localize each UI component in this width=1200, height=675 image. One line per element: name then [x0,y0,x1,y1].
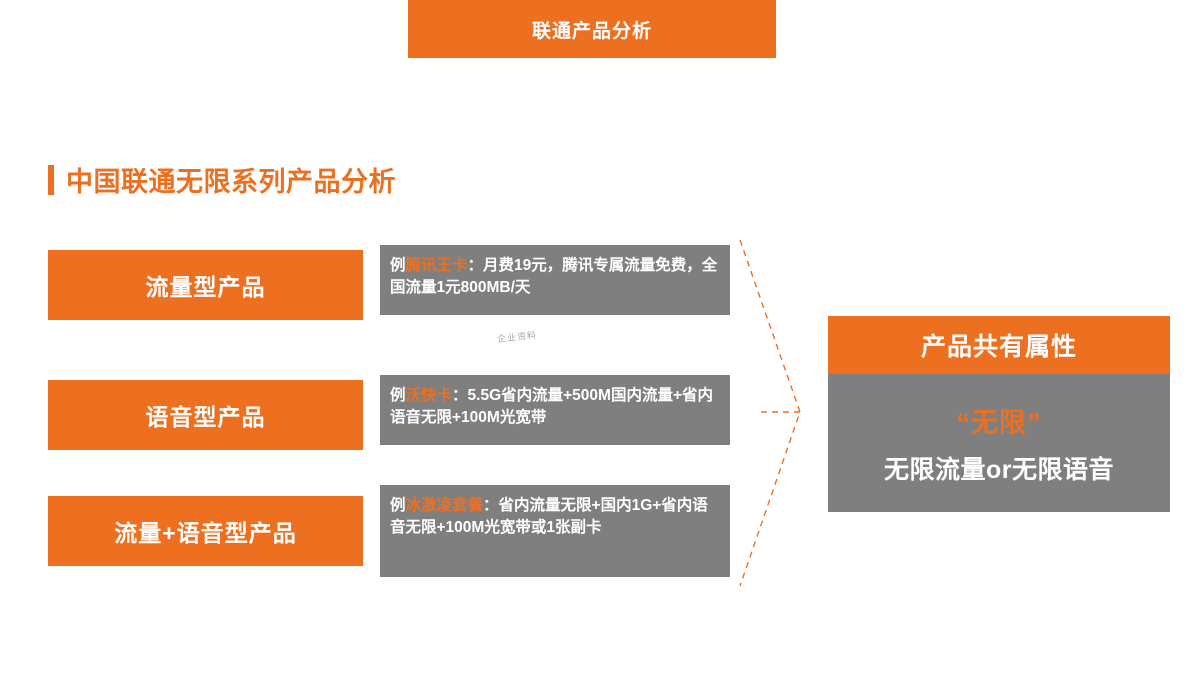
example-box-voice: 例沃快卡：5.5G省内流量+500M国内流量+省内语音无限+100M光宽带 [380,375,730,445]
category-label: 流量+语音型产品 [114,514,296,548]
top-title-text: 联通产品分析 [532,16,652,43]
section-heading-text: 中国联通无限系列产品分析 [66,160,396,199]
section-heading: 中国联通无限系列产品分析 [48,160,396,199]
example-box-traffic-voice: 例冰激凌套餐：省内流量无限+国内1G+省内语音无限+100M光宽带或1张副卡 [380,485,730,577]
category-box-traffic: 流量型产品 [48,250,363,320]
watermark-text: 企业资料 [496,328,537,345]
result-header-text: 产品共有属性 [921,327,1077,363]
example-product-name: 沃快卡 [406,387,453,404]
example-prefix: 例 [390,497,406,514]
example-product-name: 腾讯王卡 [406,257,468,274]
category-box-traffic-voice: 流量+语音型产品 [48,496,363,566]
result-quote-text: “无限” [957,401,1042,440]
chevron-arrow-icon [738,238,828,588]
result-subtitle-text: 无限流量or无限语音 [884,450,1114,486]
heading-accent-bar [48,165,54,195]
result-body: “无限” 无限流量or无限语音 [828,374,1170,512]
category-label: 流量型产品 [146,268,266,302]
example-prefix: 例 [390,387,406,404]
category-label: 语音型产品 [146,398,266,432]
result-header: 产品共有属性 [828,316,1170,374]
example-product-name: 冰激凌套餐 [406,497,484,514]
top-title-banner: 联通产品分析 [408,0,776,58]
example-box-traffic: 例腾讯王卡：月费19元，腾讯专属流量免费，全国流量1元800MB/天 [380,245,730,315]
example-prefix: 例 [390,257,406,274]
slide-canvas: 联通产品分析 中国联通无限系列产品分析 流量型产品 语音型产品 流量+语音型产品… [0,0,1200,675]
category-box-voice: 语音型产品 [48,380,363,450]
